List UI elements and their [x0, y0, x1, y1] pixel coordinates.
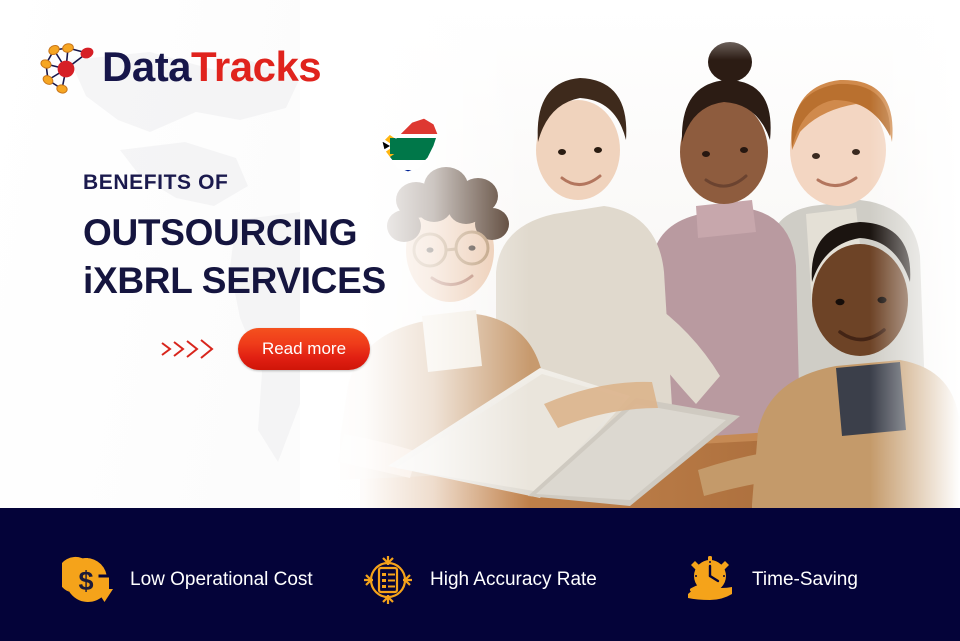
brand-logo[interactable]: DataTracks [38, 36, 321, 98]
feature-time-saving[interactable]: Time-Saving [684, 554, 858, 606]
feature-label: Time-Saving [752, 569, 858, 591]
headline-kicker: BENEFITS OF [83, 170, 413, 195]
feature-label: High Accuracy Rate [430, 569, 597, 591]
headline-line-1: OUTSOURCING [83, 209, 413, 256]
feature-low-operational-cost[interactable]: $ Low Operational Cost [62, 554, 313, 606]
feature-label: Low Operational Cost [130, 569, 313, 591]
clock-on-hand-icon [684, 554, 736, 606]
double-chevron-right-icon [160, 336, 222, 362]
brand-wordmark: DataTracks [102, 46, 321, 88]
headline-block: BENEFITS OF OUTSOURCING iXBRL SERVICES [83, 170, 413, 304]
headline-line-2: iXBRL SERVICES [83, 257, 413, 304]
promo-banner: DataTracks BENEFITS OF OUTSOURCING iXBRL… [0, 0, 960, 641]
benefits-bar: $ Low Operational Cost [0, 508, 960, 641]
brand-name-part2: Tracks [191, 43, 321, 90]
feature-high-accuracy-rate[interactable]: High Accuracy Rate [362, 554, 597, 606]
brand-name-part1: Data [102, 43, 191, 90]
network-nodes-icon [38, 36, 100, 98]
read-more-button[interactable]: Read more [238, 328, 370, 370]
dollar-coin-down-arrow-icon: $ [62, 554, 114, 606]
svg-text:$: $ [78, 566, 93, 596]
cta-row: Read more [160, 328, 370, 370]
target-checklist-icon [362, 554, 414, 606]
